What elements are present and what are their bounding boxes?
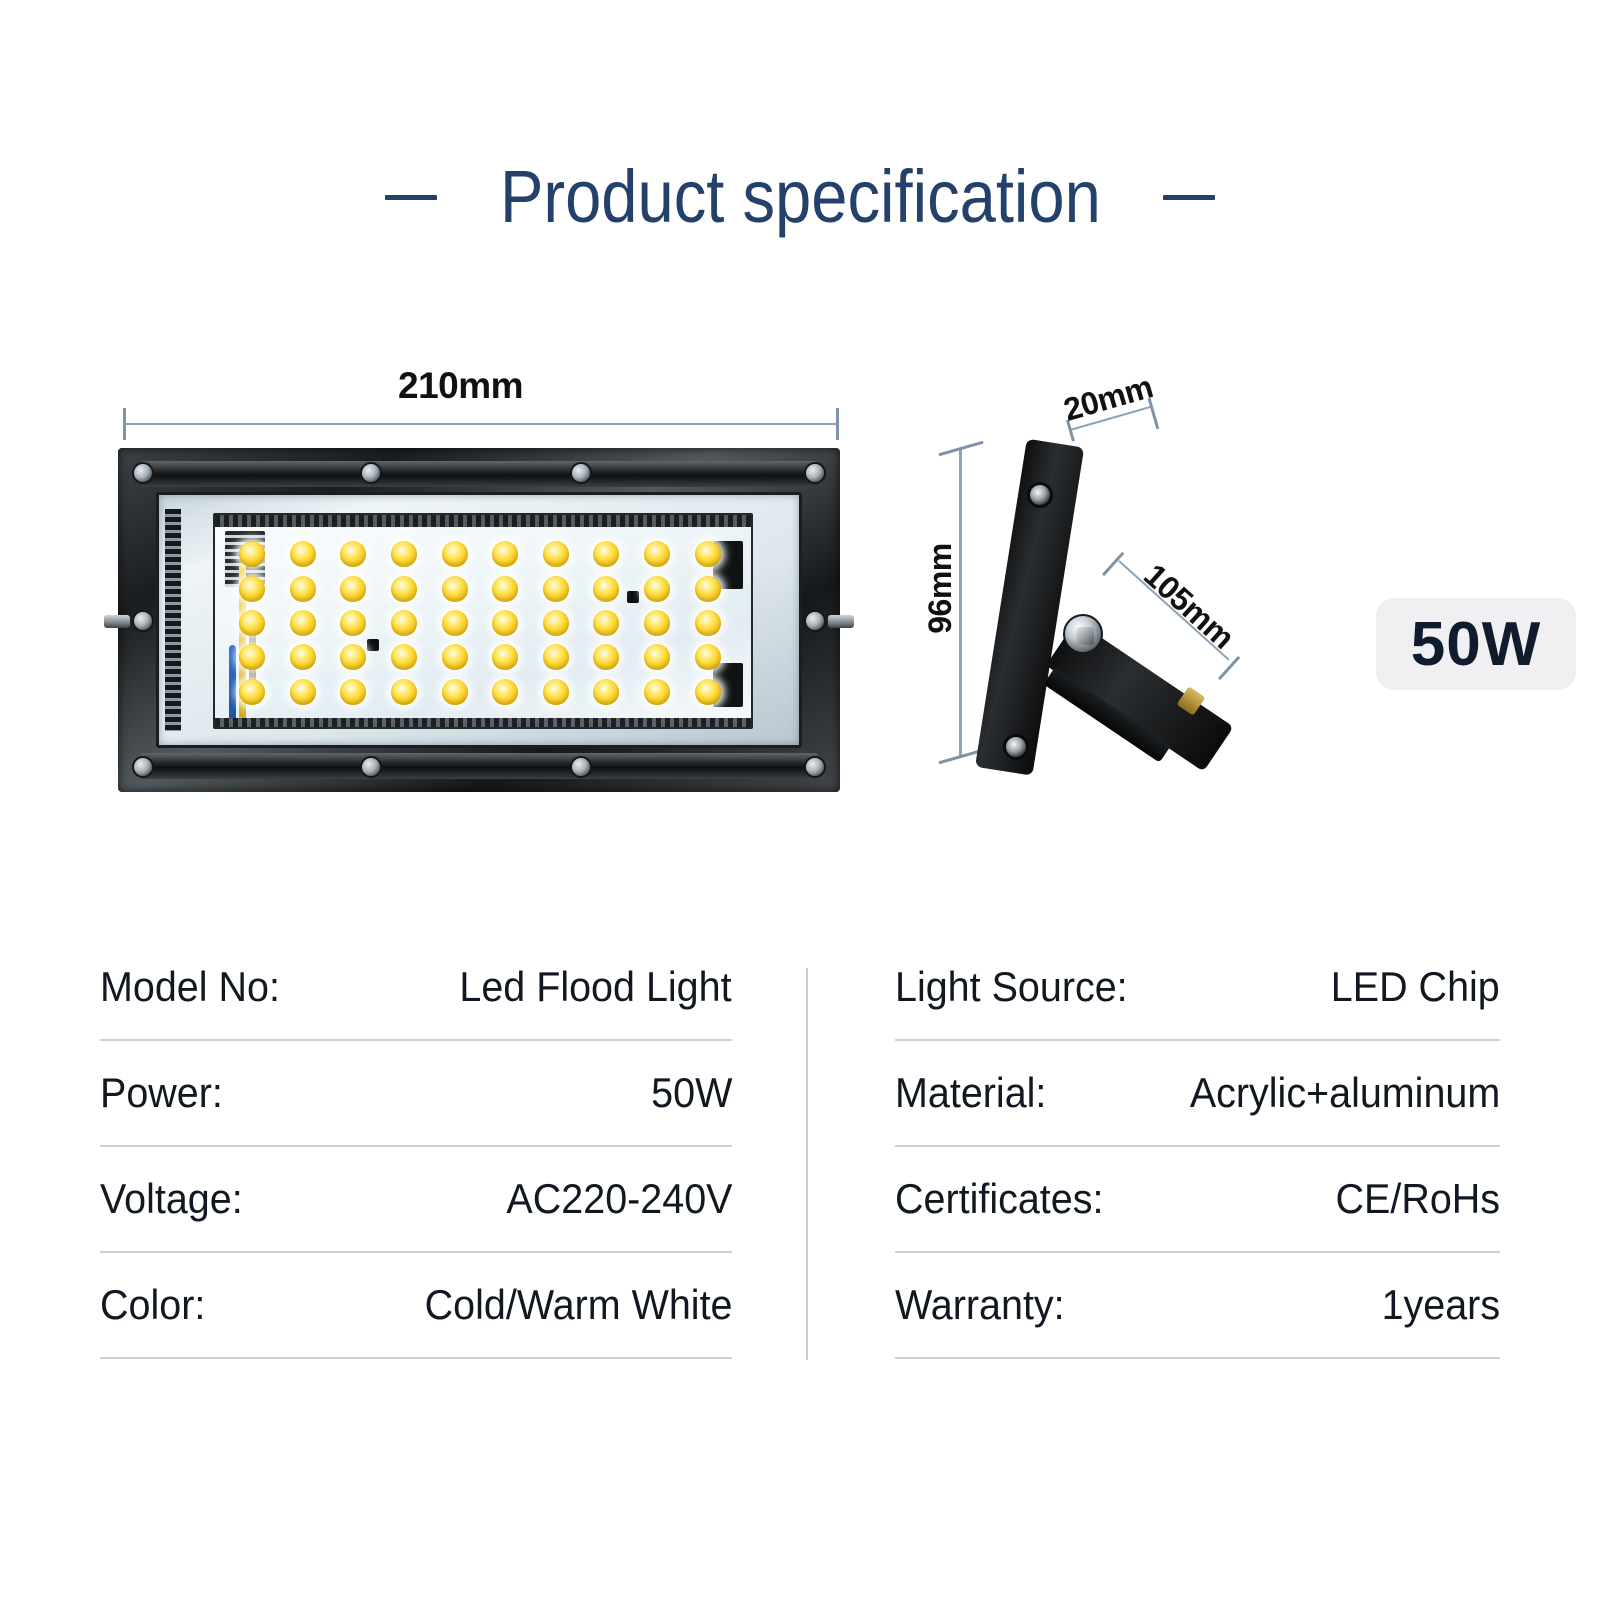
- led-chip: [543, 644, 569, 670]
- led-chip: [695, 644, 721, 670]
- side-mount-screw-icon: [132, 610, 154, 632]
- led-chip: [492, 541, 518, 567]
- led-chip: [644, 644, 670, 670]
- led-flood-light-image: [118, 448, 840, 792]
- table-row: Light Source: LED Chip: [895, 935, 1500, 1041]
- spec-key: Power:: [100, 1069, 223, 1117]
- side-mount-lug-right: [828, 615, 854, 628]
- led-chip: [442, 610, 468, 636]
- mounting-bracket-image: [975, 438, 1245, 778]
- spec-key: Material:: [895, 1069, 1046, 1117]
- bracket-mounting-hole-bottom: [1003, 734, 1029, 760]
- table-row: Model No: Led Flood Light: [100, 935, 732, 1041]
- lamp-lens: [213, 513, 753, 729]
- led-chip: [239, 541, 265, 567]
- led-chip: [442, 541, 468, 567]
- led-chip: [695, 610, 721, 636]
- spec-value: 50W: [651, 1069, 732, 1117]
- led-chip: [290, 644, 316, 670]
- side-mount-lug-left: [104, 615, 130, 628]
- corner-screw-icon: [804, 756, 826, 778]
- rail-screw-icon: [570, 756, 592, 778]
- led-chip: [492, 576, 518, 602]
- led-chip: [239, 576, 265, 602]
- side-mount-screw-icon: [804, 610, 826, 632]
- driver-chip: [713, 727, 743, 729]
- led-chip: [492, 679, 518, 705]
- led-chip: [340, 679, 366, 705]
- led-chip: [644, 541, 670, 567]
- led-chip: [593, 576, 619, 602]
- title-dash-left-icon: [385, 195, 437, 200]
- corner-screw-icon: [132, 462, 154, 484]
- dimension-label-width: 210mm: [398, 365, 523, 407]
- dimension-cap-width-right: [836, 408, 839, 440]
- led-chip: [340, 610, 366, 636]
- led-chip: [593, 644, 619, 670]
- rail-screw-icon: [360, 462, 382, 484]
- led-chip: [340, 541, 366, 567]
- led-chip: [695, 541, 721, 567]
- title-dash-right-icon: [1163, 195, 1215, 200]
- spec-key: Model No:: [100, 963, 280, 1011]
- led-chip: [391, 610, 417, 636]
- spec-key: Light Source:: [895, 963, 1128, 1011]
- power-badge-label: 50W: [1411, 609, 1541, 680]
- dimension-line-height: [959, 448, 962, 758]
- corner-screw-icon: [804, 462, 826, 484]
- page-title-text: Product specification: [500, 160, 1101, 234]
- spec-value: Led Flood Light: [460, 963, 732, 1011]
- table-row: Material: Acrylic+aluminum: [895, 1041, 1500, 1147]
- led-chip: [593, 610, 619, 636]
- table-row: Voltage: AC220-240V: [100, 1147, 732, 1253]
- table-row: Certificates: CE/RoHs: [895, 1147, 1500, 1253]
- dimension-label-height: 96mm: [922, 543, 959, 634]
- led-chip: [239, 644, 265, 670]
- spec-table-right: Light Source: LED Chip Material: Acrylic…: [895, 935, 1500, 1359]
- led-chip: [543, 576, 569, 602]
- led-chip: [543, 541, 569, 567]
- table-row: Warranty: 1years: [895, 1253, 1500, 1359]
- spec-value: AC220-240V: [506, 1175, 732, 1223]
- table-vertical-divider: [806, 968, 808, 1360]
- led-chip: [340, 644, 366, 670]
- spec-key: Voltage:: [100, 1175, 243, 1223]
- led-chip: [442, 644, 468, 670]
- table-row: Color: Cold/Warm White: [100, 1253, 732, 1359]
- led-chip: [391, 679, 417, 705]
- rail-screw-icon: [360, 756, 382, 778]
- spec-value: Cold/Warm White: [424, 1281, 732, 1329]
- dimension-cap-width-left: [123, 408, 126, 440]
- led-chip: [644, 610, 670, 636]
- led-chip: [492, 644, 518, 670]
- bracket-pivot-bolt-icon: [1063, 614, 1103, 654]
- table-row: Power: 50W: [100, 1041, 732, 1147]
- product-specification-page: Product specification 210mm 20mm 96mm 10…: [0, 0, 1600, 1600]
- dimension-line-width: [124, 423, 838, 425]
- led-chip: [391, 576, 417, 602]
- led-chip: [290, 576, 316, 602]
- spec-table-left: Model No: Led Flood Light Power: 50W Vol…: [100, 935, 732, 1359]
- lamp-bottom-rail: [140, 753, 818, 779]
- led-chip: [695, 576, 721, 602]
- led-chip-grid: [227, 537, 733, 709]
- corner-screw-icon: [132, 756, 154, 778]
- spec-value: CE/RoHs: [1335, 1175, 1500, 1223]
- led-chip: [593, 541, 619, 567]
- led-chip: [442, 576, 468, 602]
- led-chip: [290, 610, 316, 636]
- spec-key: Warranty:: [895, 1281, 1065, 1329]
- led-chip: [391, 541, 417, 567]
- page-title: Product specification: [0, 160, 1600, 234]
- led-chip: [543, 610, 569, 636]
- led-chip: [644, 576, 670, 602]
- led-chip: [593, 679, 619, 705]
- led-chip: [644, 679, 670, 705]
- led-chip: [239, 679, 265, 705]
- spec-value: Acrylic+aluminum: [1190, 1069, 1500, 1117]
- spec-key: Color:: [100, 1281, 205, 1329]
- left-heatsink-strip: [165, 509, 181, 731]
- spec-key: Certificates:: [895, 1175, 1103, 1223]
- led-chip: [391, 644, 417, 670]
- spec-value: 1years: [1382, 1281, 1500, 1329]
- lamp-bezel: [156, 492, 802, 748]
- lamp-top-rail: [140, 461, 818, 487]
- led-chip: [442, 679, 468, 705]
- rail-screw-icon: [570, 462, 592, 484]
- spec-value: LED Chip: [1331, 963, 1500, 1011]
- led-chip: [239, 610, 265, 636]
- led-chip: [290, 541, 316, 567]
- led-chip: [543, 679, 569, 705]
- led-chip: [340, 576, 366, 602]
- bracket-mounting-hole-top: [1027, 482, 1053, 508]
- led-chip: [695, 679, 721, 705]
- led-chip: [492, 610, 518, 636]
- power-badge: 50W: [1376, 598, 1576, 690]
- led-chip: [290, 679, 316, 705]
